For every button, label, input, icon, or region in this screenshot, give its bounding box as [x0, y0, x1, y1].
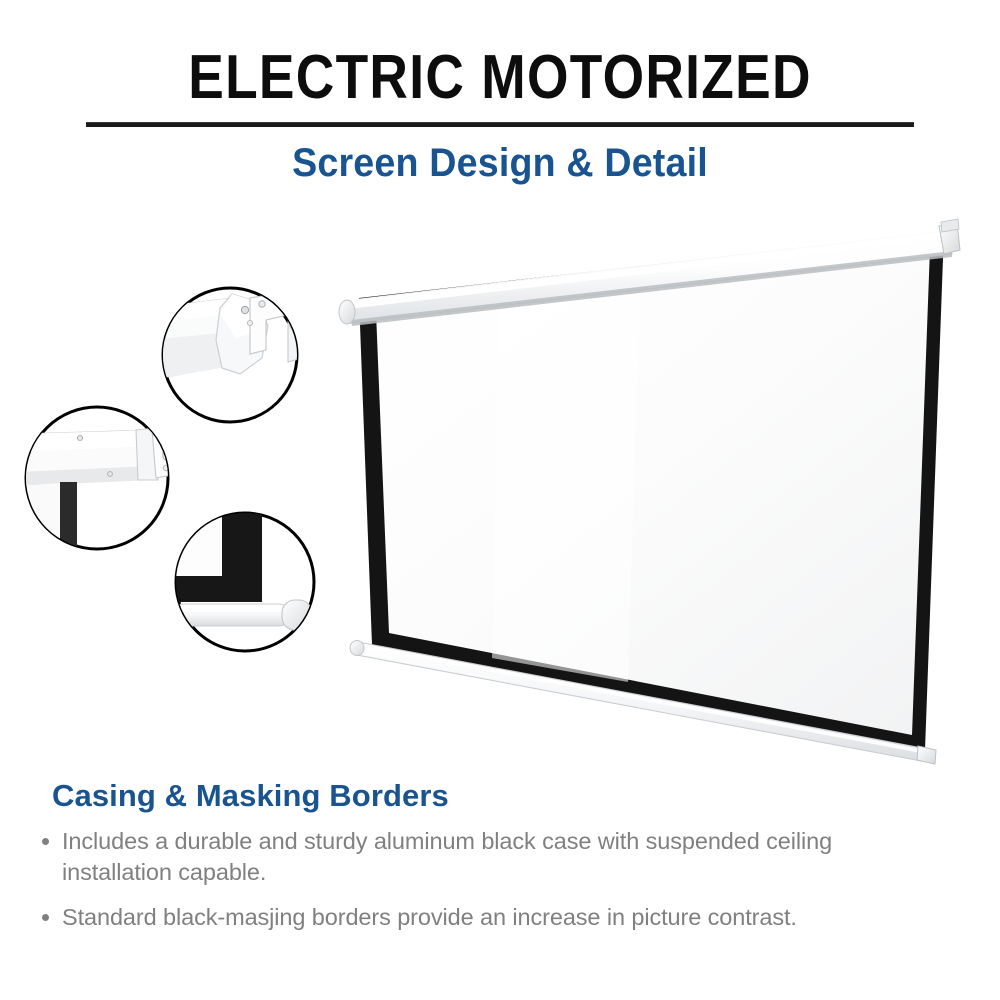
product-photo [0, 190, 1000, 780]
callout2-casing-screw-2 [108, 472, 113, 477]
projector-screen-assembly [339, 219, 960, 764]
weight-bar-left-end-cap [350, 641, 364, 656]
title-divider [86, 122, 914, 127]
callout3-masking-horizontal [176, 576, 262, 602]
callout-masking-border-weight-bar [172, 510, 314, 651]
callout2-screen-surface [18, 483, 60, 562]
callout-casing-side-profile [18, 407, 178, 562]
page-title: ELECTRIC MOTORIZED [70, 46, 930, 110]
casing-left-end-cap [339, 300, 355, 324]
infographic-page: ELECTRIC MOTORIZED Screen Design & Detai… [0, 0, 1000, 1000]
callout3-screen-surface [176, 510, 222, 576]
screen-sheen [492, 278, 640, 682]
callout1-bracket-hole-3 [247, 320, 252, 325]
callout-casing-end-cap-bracket [150, 288, 302, 422]
details-bullet-list: Includes a durable and sturdy aluminum b… [38, 826, 938, 947]
callout1-bracket-screw [241, 306, 248, 313]
list-item-text: Standard black-masjing borders provide a… [62, 904, 797, 930]
callout2-masking-strip [60, 482, 77, 562]
bullet-dot-icon [42, 914, 49, 921]
list-item: Standard black-masjing borders provide a… [38, 902, 938, 933]
list-item-text: Includes a durable and sturdy aluminum b… [62, 828, 832, 885]
callout3-weight-bar-end-cap [282, 600, 312, 630]
callout1-bracket-hole-1 [276, 297, 283, 304]
list-item: Includes a durable and sturdy aluminum b… [38, 826, 938, 888]
bullet-dot-icon [42, 838, 49, 845]
callout1-bracket-hole-2 [259, 301, 265, 307]
callout2-casing-screw [77, 435, 82, 440]
page-subtitle: Screen Design & Detail [30, 138, 970, 188]
callout2-bracket-slot [163, 440, 170, 460]
callout3-weight-bar-highlight [178, 607, 282, 612]
section-heading-casing-masking-borders: Casing & Masking Borders [52, 777, 449, 815]
